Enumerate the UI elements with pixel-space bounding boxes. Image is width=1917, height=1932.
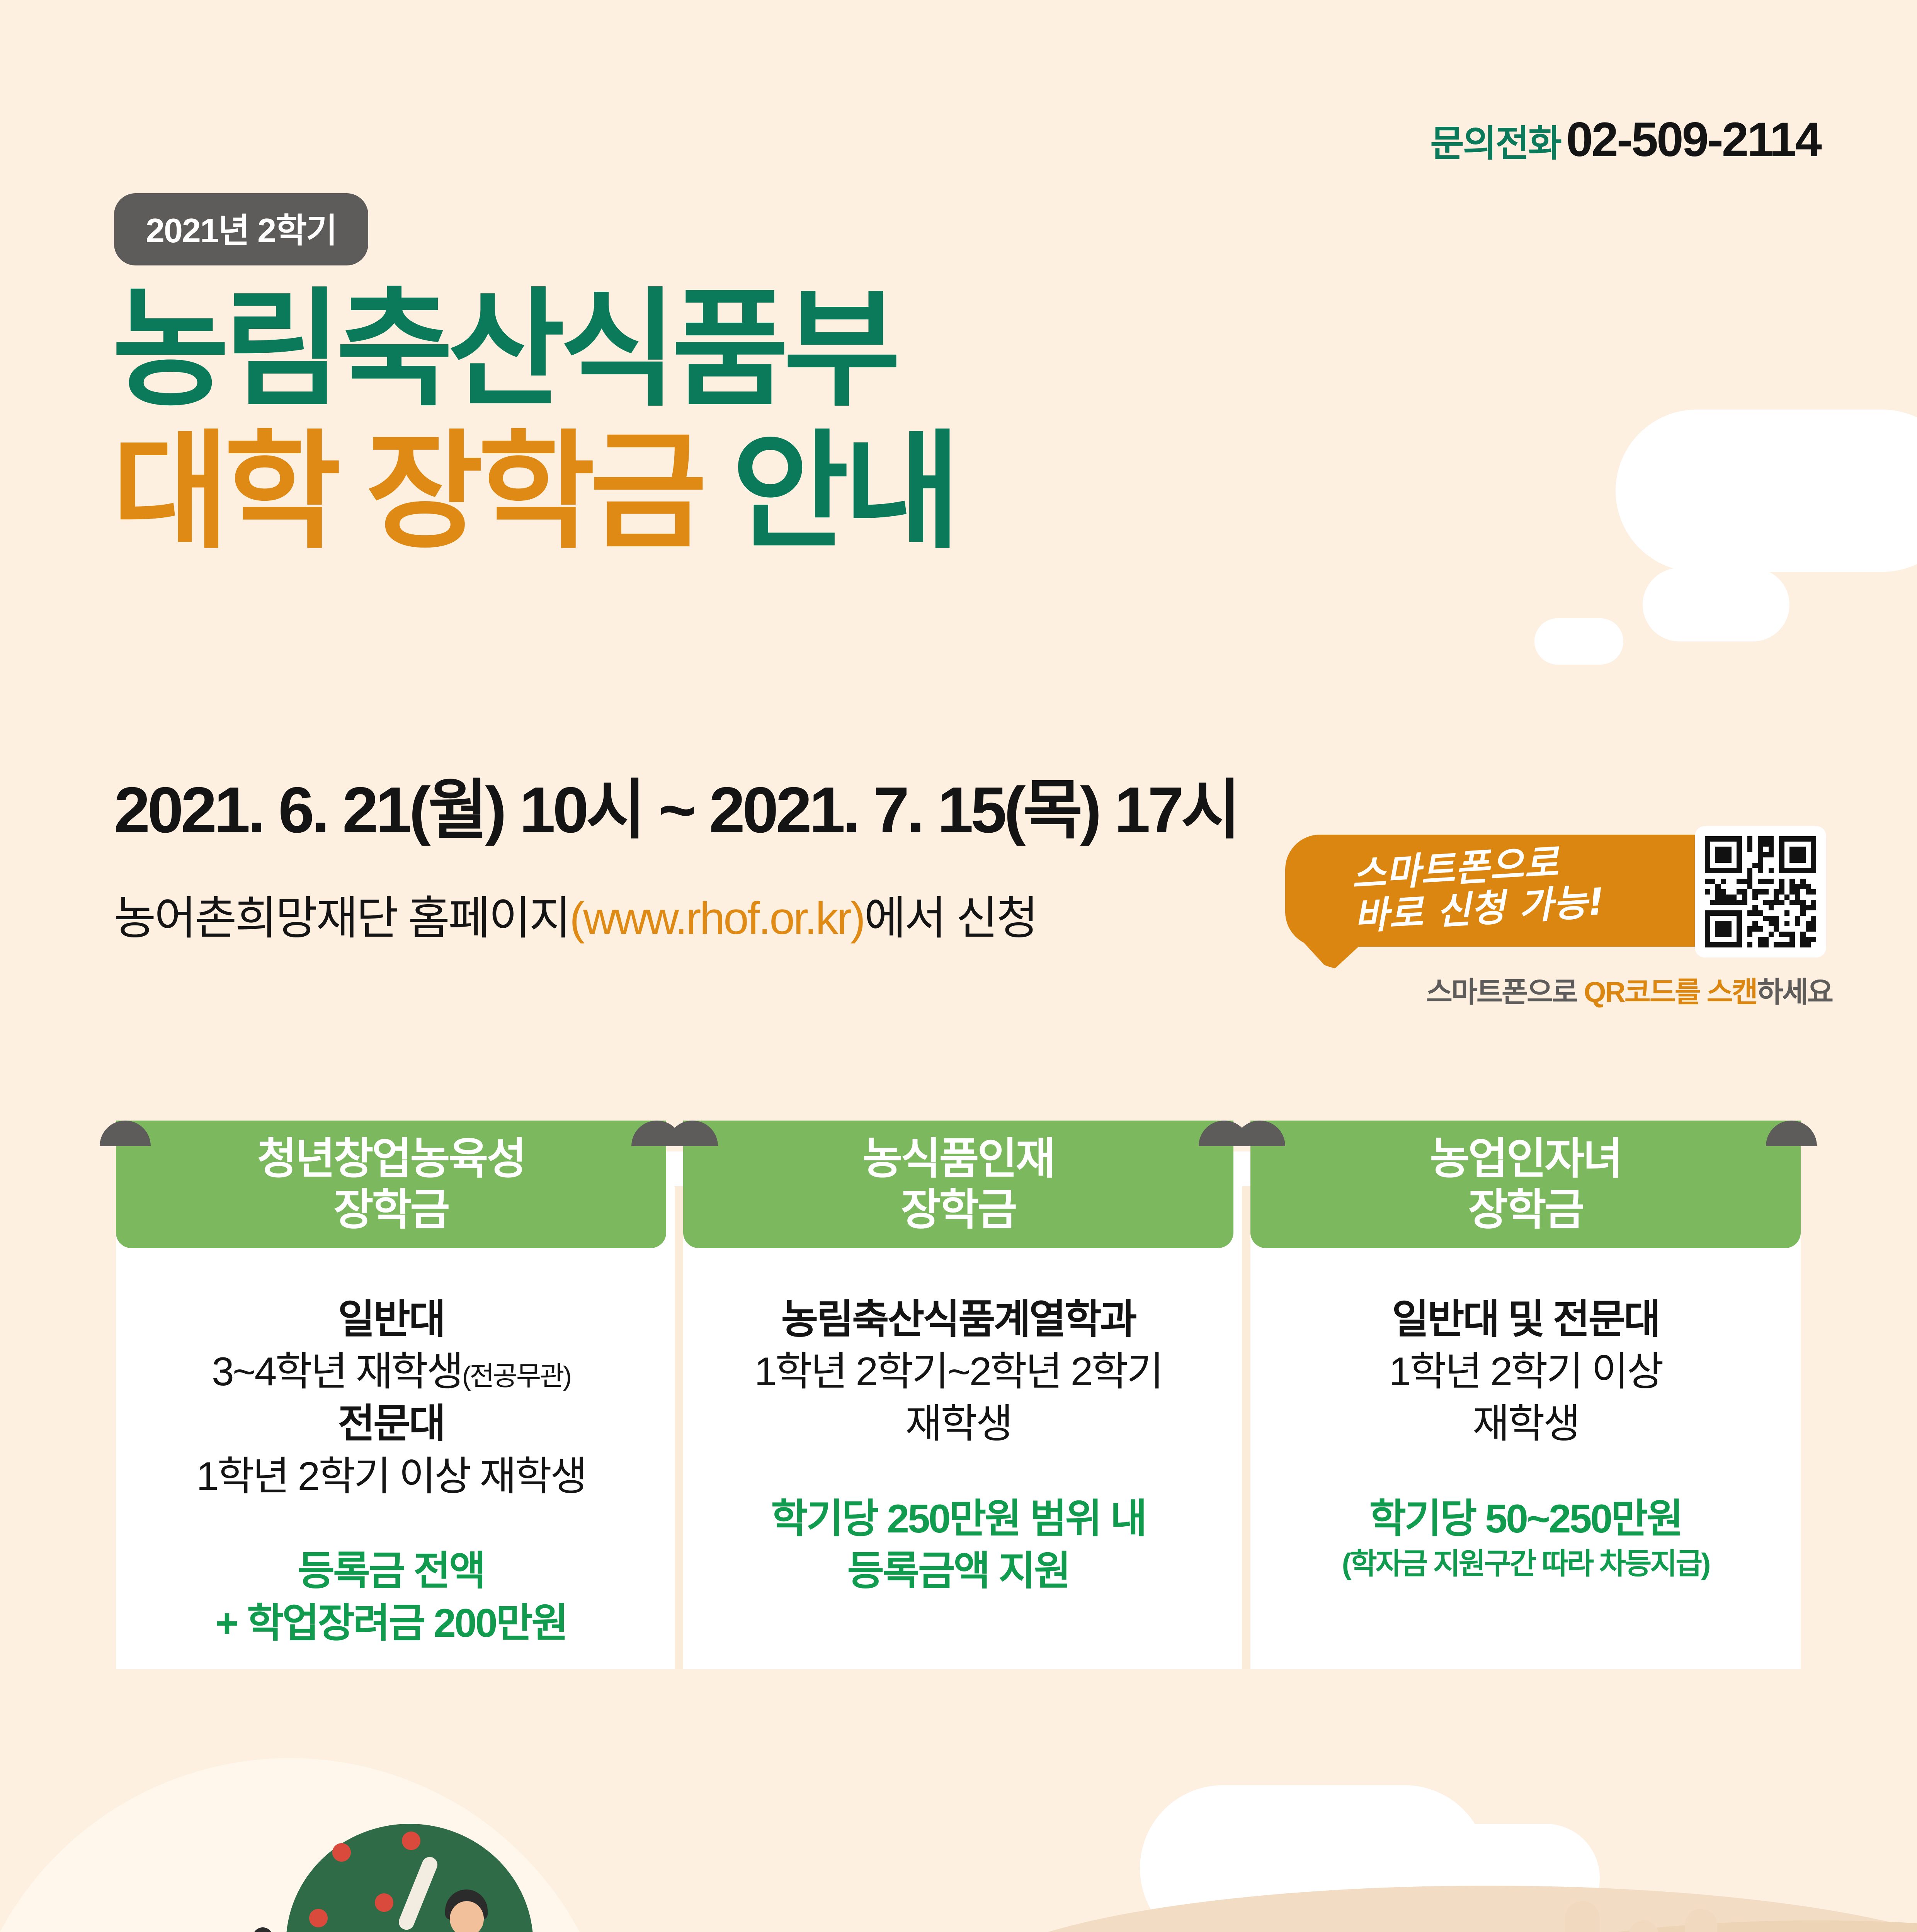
card-2-body: 농림축산식품계열학과 1학년 2학기~2학년 2학기 재학생 학기당 250만원…: [683, 1248, 1233, 1597]
title-line-2-orange: 대학 장학금: [112, 420, 702, 563]
apple-1: [332, 1843, 351, 1862]
card-2-title: 농식품인재장학금: [862, 1133, 1054, 1235]
card-1-amount-line-1: 등록금 전액: [298, 1549, 484, 1594]
speech-bubble: 스마트폰으로 바로 신청 가능!: [1285, 835, 1826, 947]
scholarship-card-1[interactable]: 청년창업농육성장학금 일반대 3~4학년 재학생(전공무관) 전문대 1학년 2…: [116, 1121, 666, 1700]
card-1-amount: 등록금 전액 + 학업장려금 200만원: [131, 1545, 651, 1650]
cloud-decoration-2: [1643, 568, 1789, 641]
card-1-header: 청년창업농육성장학금: [116, 1121, 666, 1248]
apply-suffix: 에서 신청: [864, 893, 1037, 944]
card-2-line-1: 농림축산식품계열학과: [699, 1294, 1218, 1346]
page-title: 농림축산식품부 대학 장학금 안내: [112, 286, 956, 556]
qr-code-matrix: [1705, 836, 1816, 947]
farm-illustration: [0, 1669, 1917, 1932]
card-1-line-4: 1학년 2학기 이상 재학생: [131, 1451, 651, 1503]
speech-bubble-text: 스마트폰으로 바로 신청 가능!: [1283, 840, 1606, 942]
title-line-2-green: 안내: [731, 420, 955, 563]
qr-section: 스마트폰으로 바로 신청 가능! 스마트폰으로 QR코드를 스캔하세요: [1285, 835, 1838, 947]
card-3-tab-right-icon: [1766, 1121, 1817, 1146]
card-3-tab-left-icon: [1234, 1121, 1285, 1146]
title-line-1: 농림축산식품부: [112, 286, 956, 413]
card-1-title: 청년창업농육성장학금: [257, 1133, 525, 1235]
card-2-line-3: 재학생: [699, 1398, 1218, 1450]
application-site-line: 농어촌희망재단 홈페이지(www.rhof.or.kr)에서 신청: [114, 881, 1037, 947]
card-3-title: 농업인자녀장학금: [1430, 1133, 1621, 1235]
card-3-line-2: 1학년 2학기 이상: [1266, 1346, 1785, 1398]
card-2-amount-line-2: 등록금액 지원: [847, 1549, 1070, 1594]
cloud-decoration-1: [1616, 410, 1917, 572]
qr-caption: 스마트폰으로 QR코드를 스캔하세요: [1426, 969, 1832, 1010]
poplar-tree-1: [1565, 1901, 1600, 1932]
card-2-header: 농식품인재장학금: [683, 1121, 1233, 1248]
card-2-tab-left-icon: [667, 1121, 718, 1146]
scholarship-cards: 청년창업농육성장학금 일반대 3~4학년 재학생(전공무관) 전문대 1학년 2…: [116, 1121, 1801, 1700]
card-1-line-3: 전문대: [131, 1398, 651, 1450]
card-3-amount-line-1: 학기당 50~250만원: [1369, 1497, 1682, 1541]
card-divider-2: [1242, 1186, 1250, 1692]
card-divider-1: [675, 1186, 683, 1692]
card-1-tab-left-icon: [100, 1121, 151, 1146]
contact-phone-number: 02-509-2114: [1566, 112, 1820, 167]
qr-caption-plain-1: 스마트폰으로: [1426, 976, 1584, 1008]
apple-2: [402, 1832, 420, 1850]
poster-root: 문의전화 02-509-2114 2021년 2학기 농림축산식품부 대학 장학…: [0, 0, 1917, 1932]
card-3-line-1: 일반대 및 전문대: [1266, 1294, 1785, 1346]
card-2-line-2: 1학년 2학기~2학년 2학기: [699, 1346, 1218, 1398]
contact-phone: 문의전화 02-509-2114: [1430, 112, 1820, 167]
card-1-line-1: 일반대: [131, 1294, 651, 1346]
card-3-body: 일반대 및 전문대 1학년 2학기 이상 재학생 학기당 50~250만원 (학…: [1250, 1248, 1801, 1583]
contact-phone-label: 문의전화: [1430, 114, 1561, 167]
qr-caption-highlight: QR코드를 스캔: [1584, 976, 1757, 1008]
card-1-line-2-sub: (전공무관): [462, 1361, 570, 1391]
apple-4: [375, 1893, 393, 1912]
person-apple-picker: [421, 1886, 510, 1932]
cloud-decoration-3: [1534, 618, 1623, 665]
semester-badge: 2021년 2학기: [114, 193, 368, 265]
card-3-header: 농업인자녀장학금: [1250, 1121, 1801, 1248]
apple-3: [309, 1909, 328, 1927]
apply-url[interactable]: (www.rhof.or.kr): [570, 893, 864, 944]
qr-caption-plain-2: 하세요: [1757, 976, 1832, 1008]
scholarship-card-2[interactable]: 농식품인재장학금 농림축산식품계열학과 1학년 2학기~2학년 2학기 재학생 …: [683, 1121, 1233, 1700]
card-3-amount: 학기당 50~250만원 (학자금 지원구간 따라 차등지급): [1266, 1493, 1785, 1583]
card-1-line-2: 3~4학년 재학생(전공무관): [131, 1346, 651, 1398]
card-3-amount-note: (학자금 지원구간 따라 차등지급): [1266, 1545, 1785, 1583]
card-1-amount-line-2: + 학업장려금 200만원: [215, 1601, 567, 1646]
qr-code[interactable]: [1695, 826, 1826, 957]
title-line-2: 대학 장학금 안내: [112, 428, 956, 556]
card-2-amount-line-1: 학기당 250만원 범위 내: [771, 1497, 1146, 1541]
card-3-line-3: 재학생: [1266, 1398, 1785, 1450]
card-1-body: 일반대 3~4학년 재학생(전공무관) 전문대 1학년 2학기 이상 재학생 등…: [116, 1248, 666, 1650]
application-period: 2021. 6. 21(월) 10시 ~ 2021. 7. 15(목) 17시: [114, 757, 1238, 851]
scholarship-card-3[interactable]: 농업인자녀장학금 일반대 및 전문대 1학년 2학기 이상 재학생 학기당 50…: [1250, 1121, 1801, 1700]
apply-prefix: 농어촌희망재단 홈페이지: [114, 893, 570, 944]
card-2-amount: 학기당 250만원 범위 내 등록금액 지원: [699, 1493, 1218, 1597]
